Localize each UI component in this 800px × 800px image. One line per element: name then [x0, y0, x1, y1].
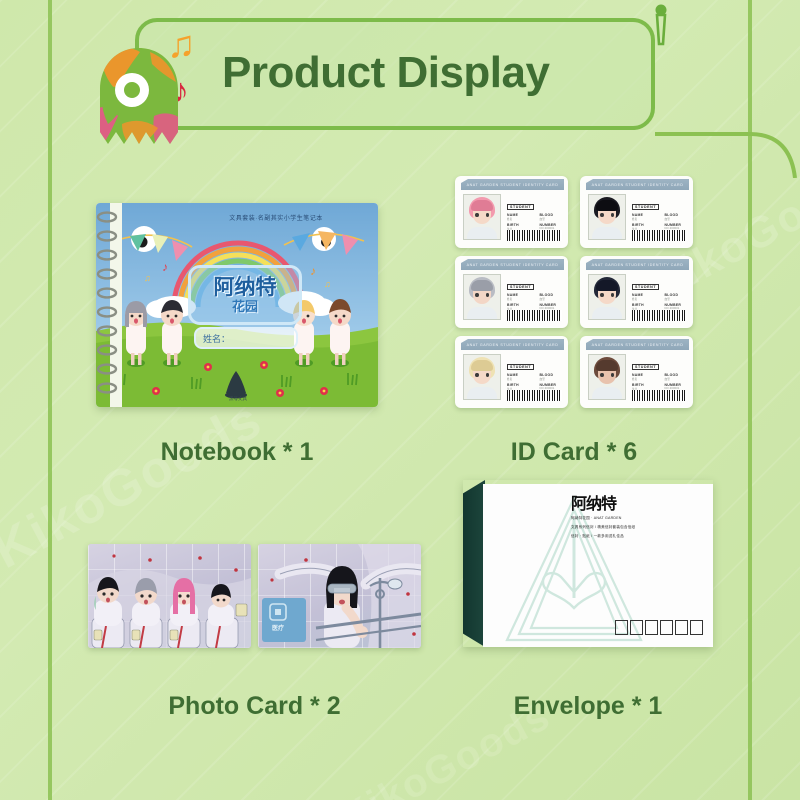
notebook-brand: 黑号文具 [216, 396, 260, 403]
envelope-label: Envelope * 1 [463, 692, 713, 721]
photo-card-2-art: 医疗 [258, 544, 421, 648]
id-field-value-name: 姓名 [632, 377, 656, 381]
svg-text:♫: ♫ [324, 279, 331, 289]
id-card-header-band: ANAT GARDEN STUDENT IDENTITY CARD [586, 339, 689, 350]
notebook-logo: 阿纳特 花园 [188, 265, 302, 325]
envelope-logo-line-2: 文具系列信封 / 精美信封套装包含信纸 [571, 524, 699, 530]
id-card-photo [463, 354, 501, 400]
id-card-band-text: ANAT GARDEN STUDENT IDENTITY CARD [467, 343, 559, 347]
id-card-band-text: ANAT GARDEN STUDENT IDENTITY CARD [467, 263, 559, 267]
svg-text:♪: ♪ [310, 264, 316, 278]
id-card-barcode [632, 390, 687, 401]
id-card-barcode [632, 230, 687, 241]
id-card-photo [588, 194, 626, 240]
envelope-product-image: 阿纳特 阿纳特花园 · ANAT GARDEN 文具系列信封 / 精美信封套装包… [463, 480, 713, 647]
id-card-1: ANAT GARDEN STUDENT IDENTITY CARD STUDEN… [455, 176, 568, 248]
id-card-grid: ANAT GARDEN STUDENT IDENTITY CARD STUDEN… [455, 176, 693, 408]
svg-text:医疗: 医疗 [272, 624, 284, 632]
notebook-name-field: 姓名： [194, 327, 298, 349]
id-card-band-text: ANAT GARDEN STUDENT IDENTITY CARD [592, 183, 684, 187]
id-card-tag: STUDENT [507, 364, 534, 370]
id-card-photo [463, 194, 501, 240]
id-card-band-text: ANAT GARDEN STUDENT IDENTITY CARD [467, 183, 559, 187]
id-card-fields: STUDENT NAME姓名 BLOOD血型 BIRTH生日 NUMBERNO.… [632, 275, 688, 313]
id-card-photo [588, 274, 626, 320]
id-card-header-band: ANAT GARDEN STUDENT IDENTITY CARD [586, 179, 689, 190]
id-card-photo [588, 354, 626, 400]
id-card-barcode [632, 310, 687, 321]
photo-card-1 [88, 544, 251, 648]
id-field-value-name: 姓名 [507, 217, 531, 221]
postal-box-4 [660, 620, 673, 635]
id-card-fields: STUDENT NAME姓名 BLOOD血型 BIRTH生日 NUMBERNO.… [632, 195, 688, 233]
id-card-header-band: ANAT GARDEN STUDENT IDENTITY CARD [586, 259, 689, 270]
id-field-value-blood: 血型 [540, 217, 564, 221]
notebook-logo-sub: 花园 [232, 300, 258, 313]
id-card-5: ANAT GARDEN STUDENT IDENTITY CARD STUDEN… [455, 336, 568, 408]
envelope-side-panel [463, 480, 485, 647]
id-field-value-blood: 血型 [665, 217, 689, 221]
id-card-6: ANAT GARDEN STUDENT IDENTITY CARD STUDEN… [580, 336, 693, 408]
id-card-3: ANAT GARDEN STUDENT IDENTITY CARD STUDEN… [455, 256, 568, 328]
id-card-band-text: ANAT GARDEN STUDENT IDENTITY CARD [592, 343, 684, 347]
postal-box-3 [645, 620, 658, 635]
frame-line-left [48, 0, 52, 800]
photo-card-label: Photo Card * 2 [88, 692, 421, 721]
pen-pin-icon [648, 4, 674, 54]
id-field-value-name: 姓名 [632, 297, 656, 301]
page-title: Product Display [222, 48, 549, 98]
photo-card-1-art [88, 544, 251, 648]
notebook-label: Notebook * 1 [96, 438, 378, 467]
id-card-tag: STUDENT [507, 204, 534, 210]
notebook-top-text: 文具套装·名副其实小学生笔记本 [216, 213, 336, 222]
id-card-2: ANAT GARDEN STUDENT IDENTITY CARD STUDEN… [580, 176, 693, 248]
id-card-photo [463, 274, 501, 320]
id-field-value-name: 姓名 [507, 297, 531, 301]
id-field-value-name: 姓名 [632, 217, 656, 221]
photo-card-2: 医疗 [258, 544, 421, 648]
id-field-value-blood: 血型 [665, 377, 689, 381]
envelope-front-face: 阿纳特 阿纳特花园 · ANAT GARDEN 文具系列信封 / 精美信封套装包… [483, 484, 713, 647]
id-card-fields: STUDENT NAME姓名 BLOOD血型 BIRTH生日 NUMBERNO.… [507, 195, 563, 233]
id-field-value-blood: 血型 [540, 297, 564, 301]
id-card-fields: STUDENT NAME姓名 BLOOD血型 BIRTH生日 NUMBERNO.… [507, 355, 563, 393]
svg-text:♫: ♫ [144, 273, 151, 283]
id-card-barcode [507, 310, 562, 321]
notebook-logo-main: 阿纳特 [214, 277, 277, 298]
id-field-value-name: 姓名 [507, 377, 531, 381]
id-card-header-band: ANAT GARDEN STUDENT IDENTITY CARD [461, 179, 564, 190]
product-display-page: KikoGoods KikoGoods KikoGoods ♫ [0, 0, 800, 800]
id-field-value-blood: 血型 [540, 377, 564, 381]
envelope-postal-code-boxes [615, 620, 703, 635]
postal-box-1 [615, 620, 628, 635]
envelope-logo-line-3: 信封 · 贴纸 / 一款多用送礼佳品 [571, 533, 699, 539]
id-card-tag: STUDENT [632, 204, 659, 210]
id-field-value-blood: 血型 [665, 297, 689, 301]
envelope-logo-line-1: 阿纳特花园 · ANAT GARDEN [571, 515, 699, 521]
id-card-tag: STUDENT [507, 284, 534, 290]
header-curve-decoration [655, 108, 800, 178]
id-card-fields: STUDENT NAME姓名 BLOOD血型 BIRTH生日 NUMBERNO.… [632, 355, 688, 393]
id-card-band-text: ANAT GARDEN STUDENT IDENTITY CARD [592, 263, 684, 267]
id-card-header-band: ANAT GARDEN STUDENT IDENTITY CARD [461, 339, 564, 350]
id-card-label: ID Card * 6 [455, 438, 693, 467]
id-card-header-band: ANAT GARDEN STUDENT IDENTITY CARD [461, 259, 564, 270]
envelope-logo: 阿纳特 阿纳特花园 · ANAT GARDEN 文具系列信封 / 精美信封套装包… [571, 496, 699, 539]
envelope-logo-main: 阿纳特 [571, 496, 699, 512]
id-card-tag: STUDENT [632, 284, 659, 290]
id-card-4: ANAT GARDEN STUDENT IDENTITY CARD STUDEN… [580, 256, 693, 328]
svg-text:♪: ♪ [162, 260, 168, 274]
id-card-fields: STUDENT NAME姓名 BLOOD血型 BIRTH生日 NUMBERNO.… [507, 275, 563, 313]
notebook-product-image: ♪ ♪ ♫ ♫ [96, 203, 378, 407]
postal-box-2 [630, 620, 643, 635]
notebook-spiral-binding [96, 203, 122, 407]
ghost-mascot-icon [96, 46, 182, 150]
id-card-barcode [507, 230, 562, 241]
postal-box-6 [690, 620, 703, 635]
postal-box-5 [675, 620, 688, 635]
id-card-barcode [507, 390, 562, 401]
id-card-tag: STUDENT [632, 364, 659, 370]
